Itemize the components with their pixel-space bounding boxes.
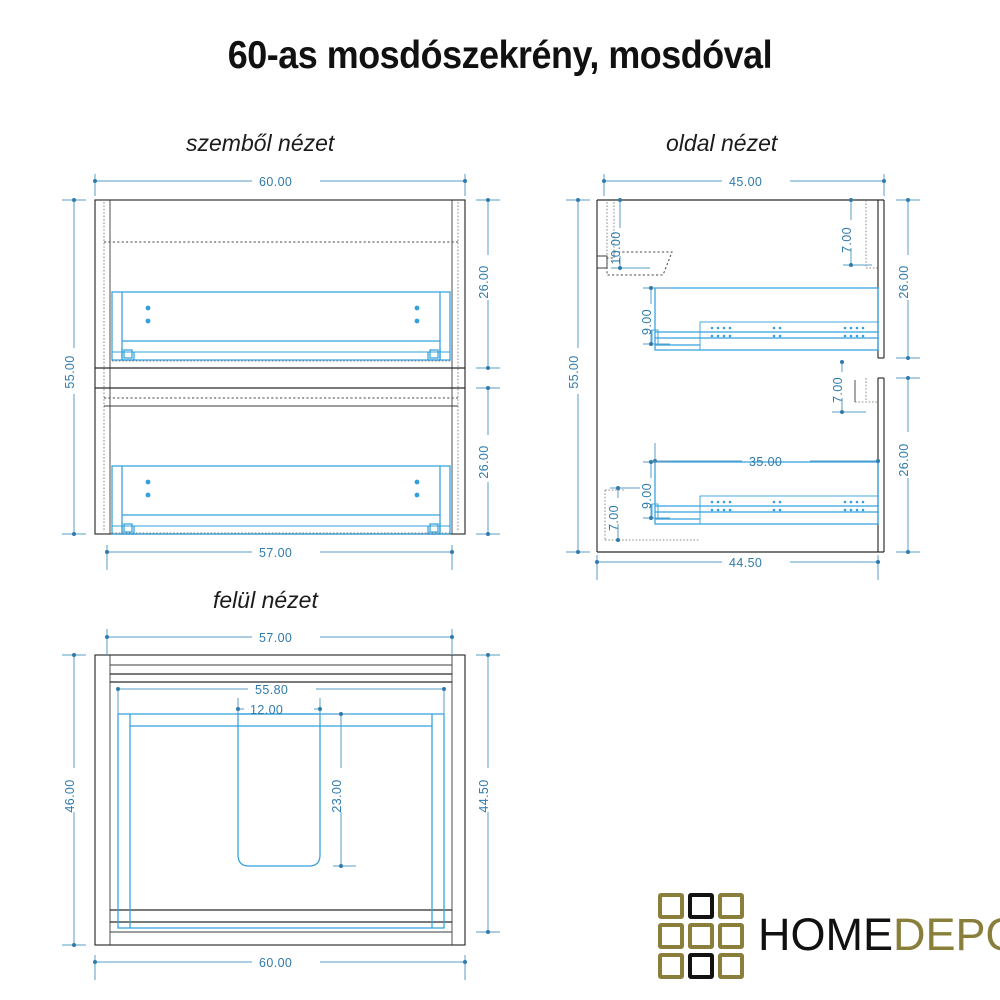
dim-top-width-bottom: 60.00 — [259, 956, 292, 970]
homedepo-logo: HOMEDEPO — [658, 893, 978, 985]
dim-top-width-top: 57.00 — [259, 631, 292, 645]
logo-cell — [688, 923, 714, 949]
logo-cell — [718, 953, 744, 979]
top-view-drawing: 57.00 55.80 12.00 23.00 46.00 — [0, 0, 1000, 1000]
logo-grid-icon — [658, 893, 744, 979]
logo-cell — [718, 893, 744, 919]
dim-top-depth-left: 46.00 — [63, 779, 77, 812]
logo-cell — [658, 923, 684, 949]
dim-top-cutout-depth: 23.00 — [330, 779, 344, 812]
logo-cell — [688, 893, 714, 919]
logo-cell — [658, 893, 684, 919]
dim-top-width-inner: 55.80 — [255, 683, 288, 697]
logo-text-home: HOME — [758, 909, 893, 960]
logo-cell — [658, 953, 684, 979]
logo-cell — [688, 953, 714, 979]
logo-cell — [718, 923, 744, 949]
dim-top-depth-right: 44.50 — [477, 779, 491, 812]
logo-text-depo: DEPO — [893, 909, 1000, 960]
logo-text: HOMEDEPO — [758, 909, 1000, 961]
dim-top-cutout-width: 12.00 — [250, 703, 283, 717]
drawing-page: 60-as mosdószekrény, mosdóval szemből né… — [0, 0, 1000, 1000]
